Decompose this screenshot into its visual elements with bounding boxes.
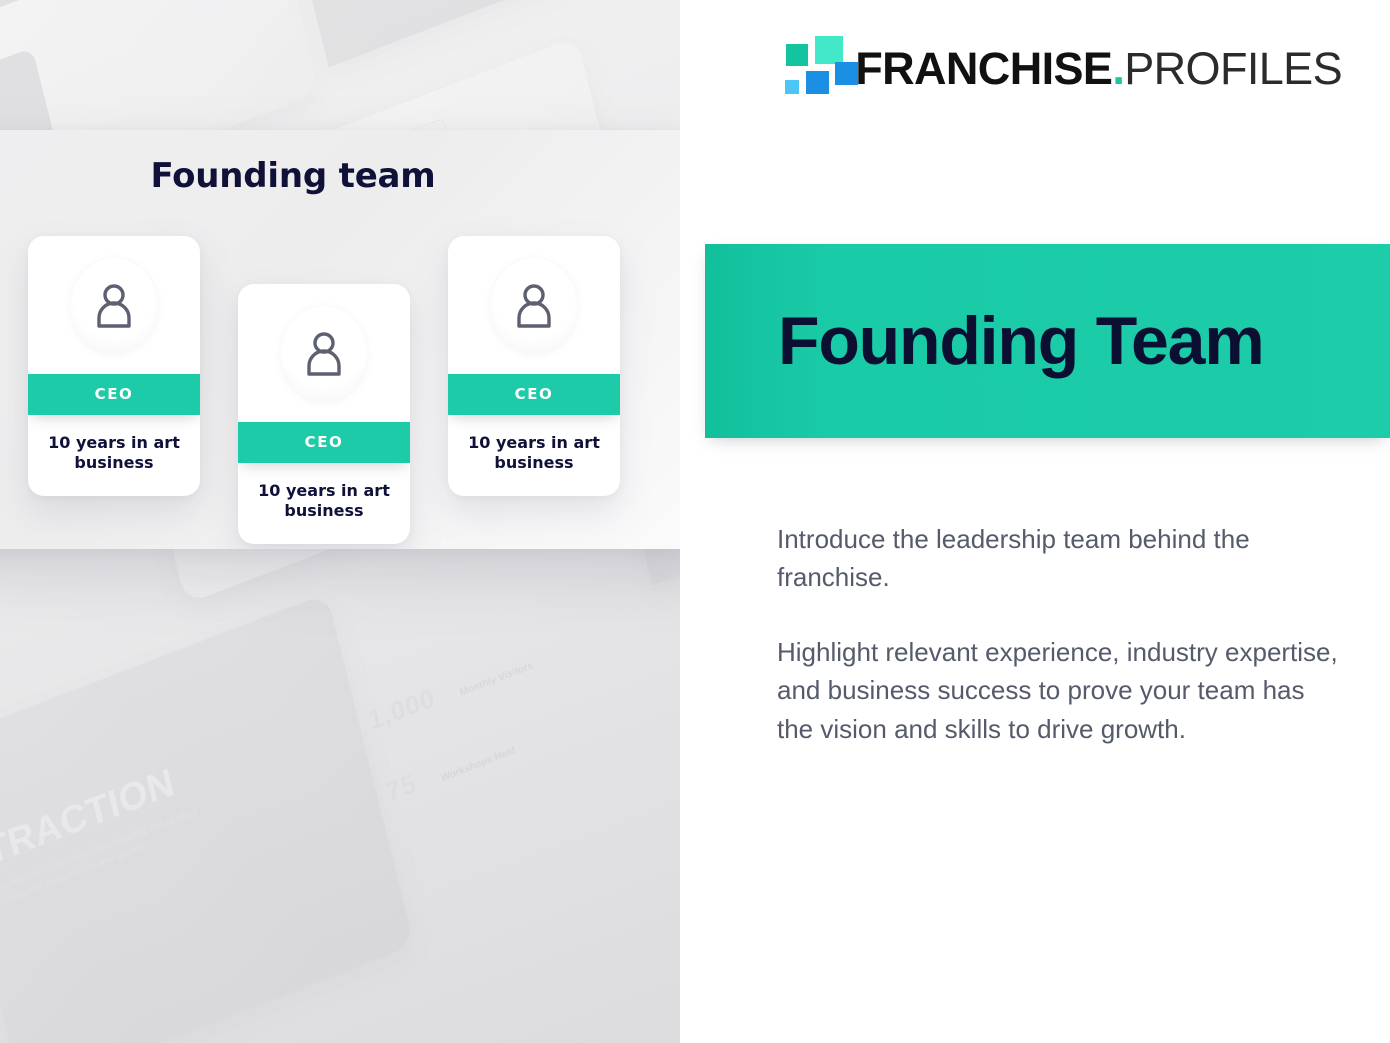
deck-slide-title: TRACTION (0, 701, 339, 872)
founder-role-badge: CEO (238, 422, 410, 463)
founder-description: 10 years in art business (238, 463, 410, 544)
brand-logo[interactable]: FRANCHISE.PROFILES (773, 38, 1342, 100)
person-icon (303, 330, 345, 376)
deck-metric-value: 75 (383, 767, 419, 808)
deck-slide-traction: TRACTION Significant milestones demonstr… (0, 593, 415, 1043)
brand-name-bold: FRANCHISE (855, 43, 1112, 95)
description-paragraph-2: Highlight relevant experience, industry … (777, 633, 1343, 748)
deck-cover-band (0, 0, 272, 53)
founder-card-list: CEO 10 years in art business CEO (28, 236, 628, 536)
deck-metric-label: Monthly Visitors (459, 659, 535, 700)
deck-metrics: 1,000 Monthly Visitors 75 Workshops Held (365, 645, 553, 809)
avatar (448, 236, 620, 374)
page-title: Founding Team (778, 302, 1264, 380)
brand-name-dot: . (1112, 43, 1124, 95)
person-icon (93, 282, 135, 328)
slide-preview-title: Founding team (0, 156, 680, 196)
avatar (28, 236, 200, 374)
founder-role-badge: CEO (28, 374, 200, 415)
person-icon (513, 282, 555, 328)
description-block: Introduce the leadership team behind the… (777, 520, 1343, 748)
avatar-circle (70, 257, 158, 353)
brand-wordmark: FRANCHISE.PROFILES (855, 43, 1342, 95)
founder-role-badge: CEO (448, 374, 620, 415)
founder-card[interactable]: CEO 10 years in art business (28, 236, 200, 496)
description-paragraph-1: Introduce the leadership team behind the… (777, 520, 1343, 597)
slide-root: MARKET Growing audiences in urban and su… (0, 0, 1390, 1043)
deck-metric-value: 1,000 (365, 682, 438, 737)
founder-description: 10 years in art business (28, 415, 200, 496)
avatar-circle (280, 305, 368, 401)
deck-metric-label: Workshops Held (440, 744, 517, 785)
founder-card[interactable]: CEO 10 years in art business (238, 284, 410, 544)
avatar-circle (490, 257, 578, 353)
slide-preview-card: Founding team CEO 10 years in art busine… (0, 130, 680, 549)
logo-squares-icon (773, 38, 833, 100)
brand-name-light: PROFILES (1124, 43, 1342, 95)
right-panel: FRANCHISE.PROFILES Founding Team Introdu… (680, 0, 1390, 1043)
founder-description: 10 years in art business (448, 415, 620, 496)
deck-cover-subtitle: Investor pitch deck (0, 0, 174, 33)
hero-title-band: Founding Team (705, 244, 1390, 438)
left-panel: MARKET Growing audiences in urban and su… (0, 0, 680, 1043)
avatar (238, 284, 410, 422)
founder-card[interactable]: CEO 10 years in art business (448, 236, 620, 496)
